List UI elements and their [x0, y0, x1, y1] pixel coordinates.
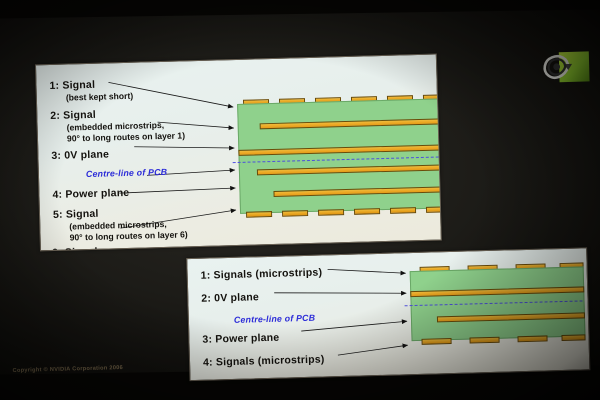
layer4-row-2: 2: 0V plane [201, 291, 259, 305]
pad-bottom-3 [318, 209, 344, 216]
layer4-row-1: 1: Signals (microstrips) [201, 266, 323, 281]
copyright-footer: Copyright © NVIDIA Corporation 2006 [13, 365, 124, 374]
projected-slide: 1: Signal (best kept short) 2: Signal (e… [0, 9, 600, 374]
pad-bottom-4 [354, 208, 380, 215]
layer-row-5: 5: Signal [53, 208, 99, 221]
pad-bottom-6 [426, 206, 442, 213]
layer-row-4: 4: Power plane [52, 187, 129, 201]
pad-bottom-1 [246, 211, 272, 218]
pad4-bottom-3 [517, 335, 547, 342]
pcb-cross-section-6-layer [237, 94, 442, 240]
centre-line-label-6: Centre-line of PCB [86, 167, 168, 179]
layer-row-3: 3: 0V plane [51, 148, 109, 162]
layer-note-5b: 90° to long routes on layer 6) [70, 229, 188, 242]
centre-line-label-4: Centre-line of PCB [234, 313, 316, 325]
layer-row-1: 1: Signal [49, 79, 95, 92]
layer4-row-4: 4: Signals (microstrips) [203, 353, 325, 368]
pad4-bottom-4 [561, 334, 585, 341]
slide-photo: 1: Signal (best kept short) 2: Signal (e… [0, 0, 600, 400]
layer4-row-3: 3: Power plane [202, 332, 279, 346]
stackup-panel-4-layer: 1: Signals (microstrips) 2: 0V plane Cen… [186, 247, 590, 381]
layer-row-2: 2: Signal [50, 109, 96, 122]
layer-row-6: 6: Signal [52, 246, 98, 252]
layer-note-1: (best kept short) [66, 91, 134, 103]
stackup-panel-6-layer: 1: Signal (best kept short) 2: Signal (e… [35, 54, 442, 252]
pad-bottom-5 [390, 207, 416, 214]
pad4-bottom-2 [469, 337, 499, 344]
pad-bottom-2 [282, 210, 308, 217]
nvidia-eye-logo [538, 45, 591, 88]
pcb-cross-section-4-layer [410, 262, 585, 362]
pad4-bottom-1 [422, 338, 452, 345]
pcb-dielectric-core [237, 98, 442, 214]
layer-note-2b: 90° to long routes on layer 1) [67, 130, 185, 143]
